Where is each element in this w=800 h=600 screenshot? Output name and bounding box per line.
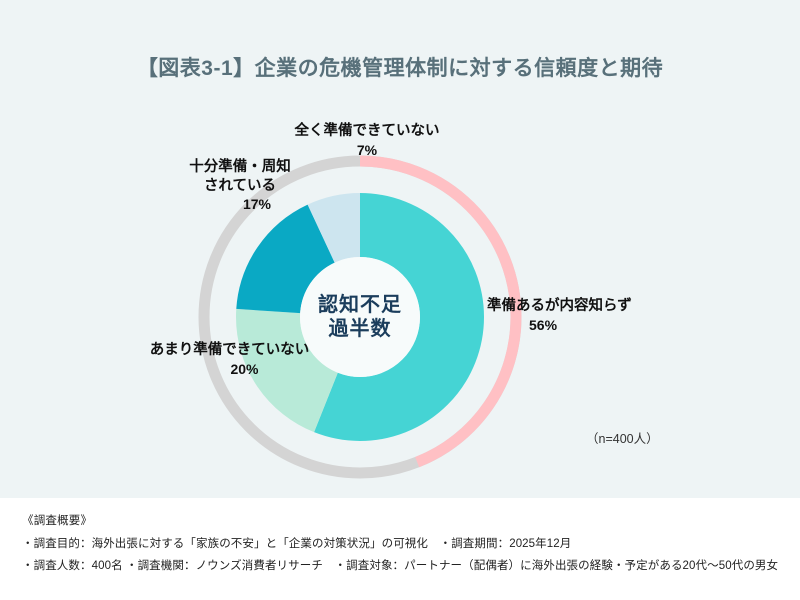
slice-label-percent: 56% bbox=[487, 316, 687, 336]
slice-label-preparation-unknown-content: 準備あるが内容知らず 56% bbox=[487, 297, 687, 335]
slice-label-not-prepared-at-all: 全く準備できていない 7% bbox=[262, 122, 472, 160]
slice-label-text-line1: 十分準備・周知 bbox=[150, 158, 330, 177]
slice-label-text: 全く準備できていない bbox=[262, 122, 472, 141]
slice-label-percent: 20% bbox=[122, 360, 337, 380]
slice-label-text: 準備あるが内容知らず bbox=[487, 297, 687, 316]
chart-page: 【図表3-1】企業の危機管理体制に対する信頼度と期待 bbox=[0, 0, 800, 600]
footer-heading: 《調査概要》 bbox=[22, 512, 778, 528]
slice-label-fully-prepared: 十分準備・周知 されている 17% bbox=[150, 158, 330, 215]
page-title: 【図表3-1】企業の危機管理体制に対する信頼度と期待 bbox=[0, 52, 800, 82]
footer-line-sample-target: ・調査人数：400名 ・調査機関：ノウンズ消費者リサーチ ・調査対象：パートナー… bbox=[22, 558, 778, 575]
slice-label-not-well-prepared: あまり準備できていない 20% bbox=[122, 341, 337, 379]
sample-size-note: （n=400人） bbox=[586, 428, 659, 447]
slice-label-text-line2: されている bbox=[150, 177, 330, 196]
slice-label-text: あまり準備できていない bbox=[122, 341, 337, 360]
slice-label-percent: 17% bbox=[150, 195, 330, 215]
footer-line-purpose-period: ・調査目的：海外出張に対する「家族の不安」と「企業の対策状況」の可視化 ・調査期… bbox=[22, 536, 778, 553]
chart-panel: 【図表3-1】企業の危機管理体制に対する信頼度と期待 bbox=[0, 0, 800, 498]
survey-overview-footer: 《調査概要》 ・調査目的：海外出張に対する「家族の不安」と「企業の対策状況」の可… bbox=[0, 498, 800, 600]
